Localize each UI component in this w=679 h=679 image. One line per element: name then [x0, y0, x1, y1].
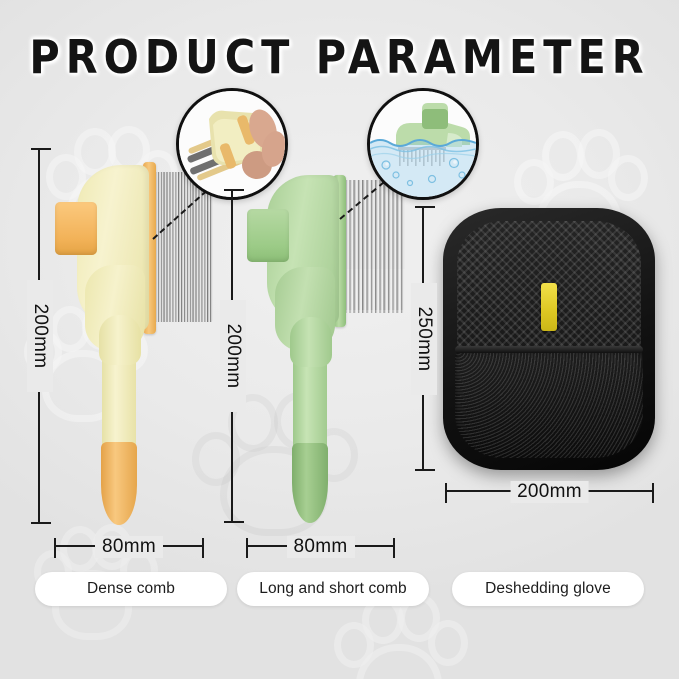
release-button[interactable] [247, 209, 289, 262]
hand-holding-comb-icon [179, 91, 285, 197]
callout-dense-comb [176, 88, 288, 200]
dimension-cap [246, 538, 248, 558]
label-dense-comb: Dense comb [35, 572, 227, 606]
dimension-cap [224, 189, 244, 191]
comb-teeth-short [345, 269, 405, 313]
dimension-cap [31, 148, 51, 150]
dimension-cap [224, 521, 244, 523]
dimension-cap [415, 469, 435, 471]
dimension-label: 80mm [287, 536, 355, 558]
dimension-right-height: 250mm [422, 207, 424, 470]
dimension-label: 200mm [510, 481, 589, 503]
dimension-cap [54, 538, 56, 558]
dimension-label: 80mm [95, 536, 163, 558]
dimension-middle-width: 80mm [247, 545, 394, 547]
dimension-cap [393, 538, 395, 558]
glove-yellow-tab[interactable] [541, 283, 557, 331]
dimension-cap [652, 483, 654, 503]
glove-mesh-pocket[interactable] [455, 348, 643, 458]
dimension-left-width: 80mm [55, 545, 203, 547]
comb-washing-in-water-icon [370, 91, 476, 197]
dimension-right-width: 200mm [446, 490, 653, 492]
dimension-cap [415, 206, 435, 208]
dimension-cap [202, 538, 204, 558]
callout-long-short-comb [367, 88, 479, 200]
infographic-canvas: PRODUCT PARAMETER [0, 0, 679, 679]
page-title: PRODUCT PARAMETER [0, 30, 679, 84]
label-text: Deshedding glove [485, 580, 611, 598]
dimension-left-height: 200mm [38, 149, 40, 523]
product-long-short-comb [247, 175, 407, 535]
comb-handle-tip [292, 443, 328, 523]
comb-handle-neck [99, 315, 141, 365]
dimension-cap [31, 522, 51, 524]
label-text: Dense comb [87, 580, 175, 598]
dimension-label: 250mm [413, 302, 435, 375]
dimension-middle-height: 200mm [231, 190, 233, 522]
dimension-label: 200mm [29, 300, 51, 373]
dimension-cap [445, 483, 447, 503]
comb-handle-neck [290, 317, 332, 367]
label-deshedding-glove: Deshedding glove [452, 572, 644, 606]
release-button[interactable] [55, 202, 97, 255]
glove-pocket-edge [455, 346, 643, 353]
product-deshedding-glove [443, 208, 655, 470]
comb-handle-tip [101, 442, 137, 525]
label-long-short-comb: Long and short comb [237, 572, 429, 606]
comb-teeth [155, 172, 213, 322]
dimension-label: 200mm [222, 320, 244, 393]
label-text: Long and short comb [259, 580, 407, 598]
